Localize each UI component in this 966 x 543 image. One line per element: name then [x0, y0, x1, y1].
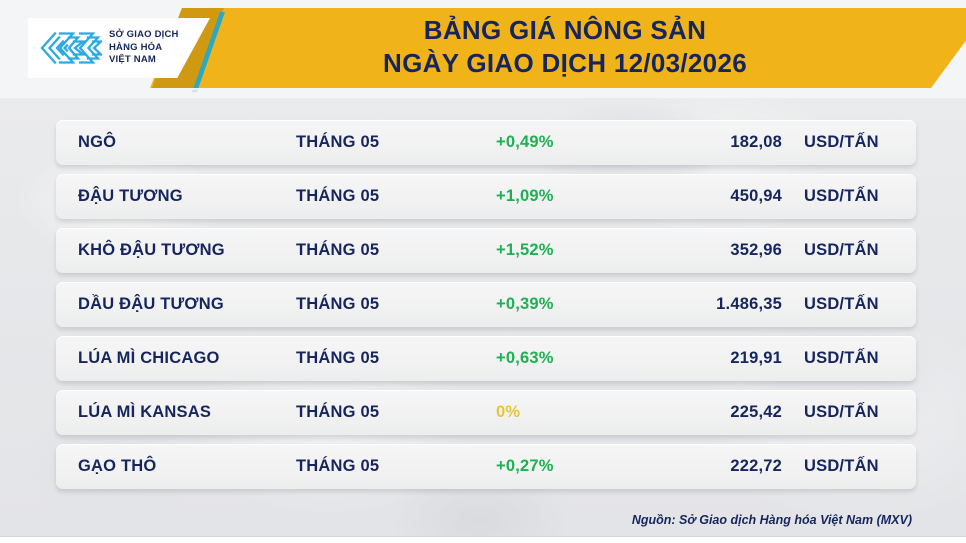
contract-month: THÁNG 05 — [296, 295, 496, 314]
price-change-pct: +1,09% — [496, 187, 672, 206]
price-unit: USD/TẤN — [782, 349, 879, 368]
header-fade — [0, 88, 966, 98]
contract-month: THÁNG 05 — [296, 349, 496, 368]
commodity-name: GẠO THÔ — [78, 457, 296, 476]
price-value: 450,94 — [672, 187, 782, 206]
table-row: DẦU ĐẬU TƯƠNGTHÁNG 05+0,39%1.486,35USD/T… — [56, 282, 916, 327]
source-note: Nguồn: Sở Giao dịch Hàng hóa Việt Nam (M… — [632, 513, 912, 527]
logo-line-1: SỞ GIAO DỊCH — [109, 29, 179, 42]
title-line-1: BẢNG GIÁ NÔNG SẢN — [220, 14, 910, 47]
table-row: LÚA MÌ KANSASTHÁNG 050%225,42USD/TẤN — [56, 390, 916, 435]
table-row: GẠO THÔTHÁNG 05+0,27%222,72USD/TẤN — [56, 444, 916, 489]
price-change-pct: +0,39% — [496, 295, 672, 314]
contract-month: THÁNG 05 — [296, 241, 496, 260]
mxv-chevron-maze-logo-icon — [40, 28, 102, 68]
contract-month: THÁNG 05 — [296, 187, 496, 206]
price-value: 182,08 — [672, 133, 782, 152]
commodity-name: KHÔ ĐẬU TƯƠNG — [78, 241, 296, 260]
price-unit: USD/TẤN — [782, 241, 879, 260]
table-row: NGÔTHÁNG 05+0,49%182,08USD/TẤN — [56, 120, 916, 165]
price-change-pct: +0,49% — [496, 133, 672, 152]
contract-month: THÁNG 05 — [296, 457, 496, 476]
price-value: 352,96 — [672, 241, 782, 260]
logo-line-3: VIỆT NAM — [109, 54, 179, 67]
price-unit: USD/TẤN — [782, 403, 879, 422]
price-unit: USD/TẤN — [782, 133, 879, 152]
price-unit: USD/TẤN — [782, 457, 879, 476]
logo-line-2: HÀNG HÓA — [109, 42, 179, 55]
price-board-page: SỞ GIAO DỊCH HÀNG HÓA VIỆT NAM ™ BẢNG GI… — [0, 0, 966, 543]
price-value: 222,72 — [672, 457, 782, 476]
price-unit: USD/TẤN — [782, 295, 879, 314]
page-title: BẢNG GIÁ NÔNG SẢN NGÀY GIAO DỊCH 12/03/2… — [220, 14, 910, 80]
price-change-pct: 0% — [496, 403, 672, 422]
commodity-name: DẦU ĐẬU TƯƠNG — [78, 295, 296, 314]
page-bottom-edge — [0, 537, 966, 543]
trademark-symbol: ™ — [124, 44, 129, 50]
table-row: KHÔ ĐẬU TƯƠNGTHÁNG 05+1,52%352,96USD/TẤN — [56, 228, 916, 273]
table-row: LÚA MÌ CHICAGOTHÁNG 05+0,63%219,91USD/TẤ… — [56, 336, 916, 381]
price-value: 219,91 — [672, 349, 782, 368]
commodity-name: LÚA MÌ KANSAS — [78, 403, 296, 422]
commodity-price-list: NGÔTHÁNG 05+0,49%182,08USD/TẤNĐẬU TƯƠNGT… — [56, 120, 916, 498]
title-line-2: NGÀY GIAO DỊCH 12/03/2026 — [220, 47, 910, 80]
contract-month: THÁNG 05 — [296, 133, 496, 152]
table-row: ĐẬU TƯƠNGTHÁNG 05+1,09%450,94USD/TẤN — [56, 174, 916, 219]
price-change-pct: +0,63% — [496, 349, 672, 368]
commodity-name: LÚA MÌ CHICAGO — [78, 349, 296, 368]
commodity-name: ĐẬU TƯƠNG — [78, 187, 296, 206]
price-change-pct: +0,27% — [496, 457, 672, 476]
contract-month: THÁNG 05 — [296, 403, 496, 422]
logo-wordmark: SỞ GIAO DỊCH HÀNG HÓA VIỆT NAM — [109, 29, 179, 67]
commodity-name: NGÔ — [78, 133, 296, 152]
price-unit: USD/TẤN — [782, 187, 879, 206]
price-value: 1.486,35 — [672, 295, 782, 314]
price-value: 225,42 — [672, 403, 782, 422]
page-header: SỞ GIAO DỊCH HÀNG HÓA VIỆT NAM ™ BẢNG GI… — [0, 0, 966, 98]
price-change-pct: +1,52% — [496, 241, 672, 260]
